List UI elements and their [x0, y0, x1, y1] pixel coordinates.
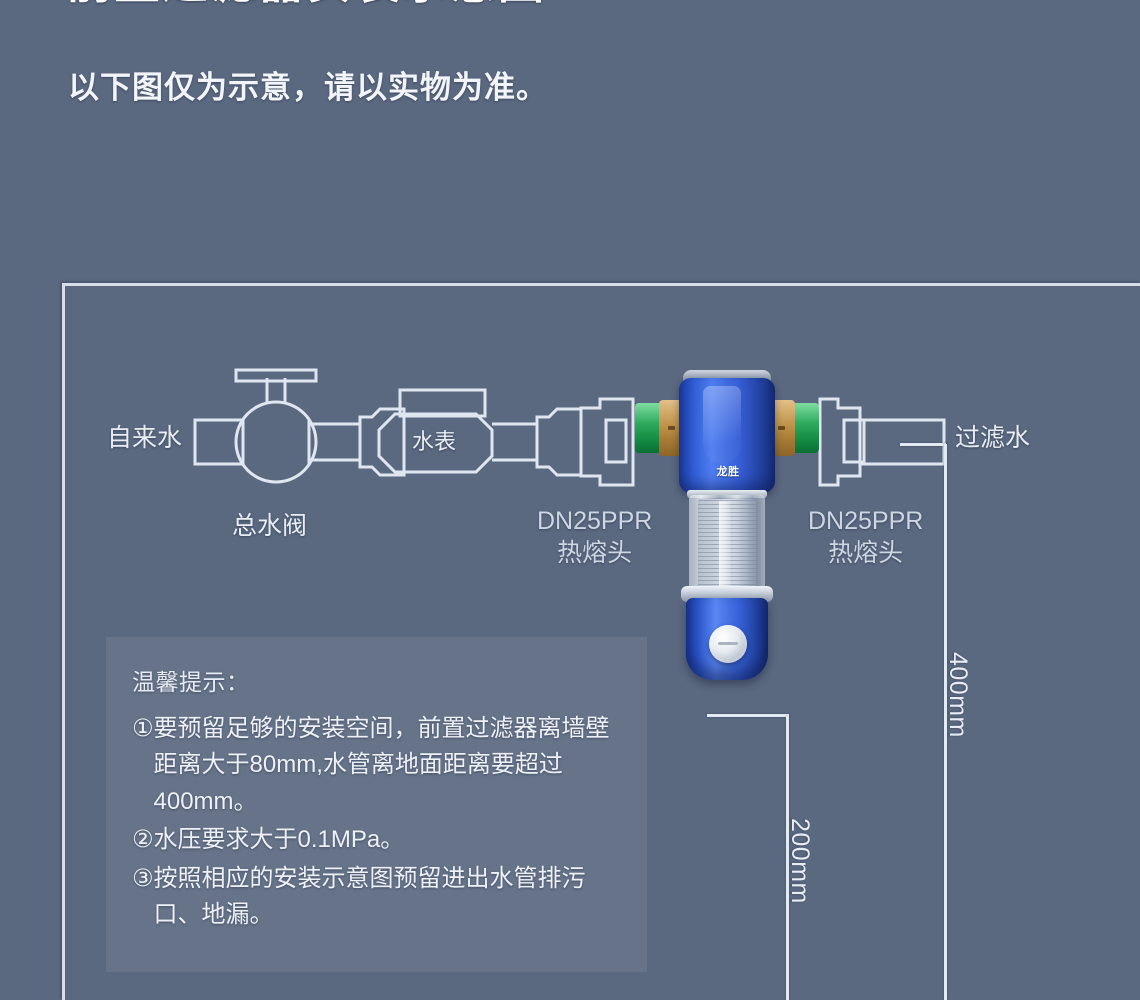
- fitting-name-right: 热熔头: [808, 537, 923, 569]
- tip-text: 要预留足够的安装空间，前置过滤器离墙壁距离大于80mm,水管离地面距离要超过40…: [154, 711, 621, 820]
- ppr-fitting-left-icon: [635, 403, 661, 453]
- filter-drain-knob: [709, 625, 747, 663]
- tip-marker: ②: [132, 822, 154, 858]
- dimension-400-label: 400mm: [943, 652, 972, 738]
- fitting-name-left: 热熔头: [537, 537, 652, 569]
- tips-panel: 温馨提示： ① 要预留足够的安装空间，前置过滤器离墙壁距离大于80mm,水管离地…: [106, 637, 647, 972]
- fitting-label-left: DN25PPR 热熔头: [537, 505, 652, 569]
- filter-transparent-bowl: [689, 495, 765, 593]
- page-subtitle: 以下图仅为示意，请以实物为准。: [68, 62, 548, 107]
- tip-marker: ①: [132, 711, 154, 820]
- label-water-meter: 水表: [412, 424, 456, 456]
- dimension-200-label: 200mm: [785, 818, 814, 904]
- tip-item: ③ 按照相应的安装示意图预留进出水管排污口、地漏。: [132, 861, 621, 934]
- front-filter-product-image: 龙胜: [659, 370, 794, 710]
- filter-bowl-highlight: [719, 501, 731, 587]
- brand-logo: 龙胜: [689, 462, 767, 480]
- dimension-400-tick: [900, 443, 946, 446]
- tip-item: ② 水压要求大于0.1MPa。: [132, 822, 621, 858]
- fitting-label-right: DN25PPR 热熔头: [808, 505, 923, 569]
- page-title: 前置过滤器安装示意图: [66, 0, 546, 12]
- fitting-spec-right: DN25PPR: [808, 505, 923, 537]
- label-tap-water: 自来水: [107, 418, 182, 454]
- fitting-spec-left: DN25PPR: [537, 505, 652, 537]
- tips-heading: 温馨提示：: [132, 663, 621, 697]
- dimension-200-tick: [707, 714, 789, 717]
- tip-marker: ③: [132, 861, 154, 934]
- ppr-fitting-right-icon: [793, 403, 819, 453]
- label-main-valve: 总水阀: [232, 506, 307, 542]
- tip-item: ① 要预留足够的安装空间，前置过滤器离墙壁距离大于80mm,水管离地面距离要超过…: [132, 711, 621, 820]
- tip-text: 按照相应的安装示意图预留进出水管排污口、地漏。: [154, 861, 621, 934]
- filter-head-highlight: [703, 386, 741, 464]
- label-filtered-water: 过滤水: [955, 418, 1030, 454]
- tip-text: 水压要求大于0.1MPa。: [154, 822, 621, 858]
